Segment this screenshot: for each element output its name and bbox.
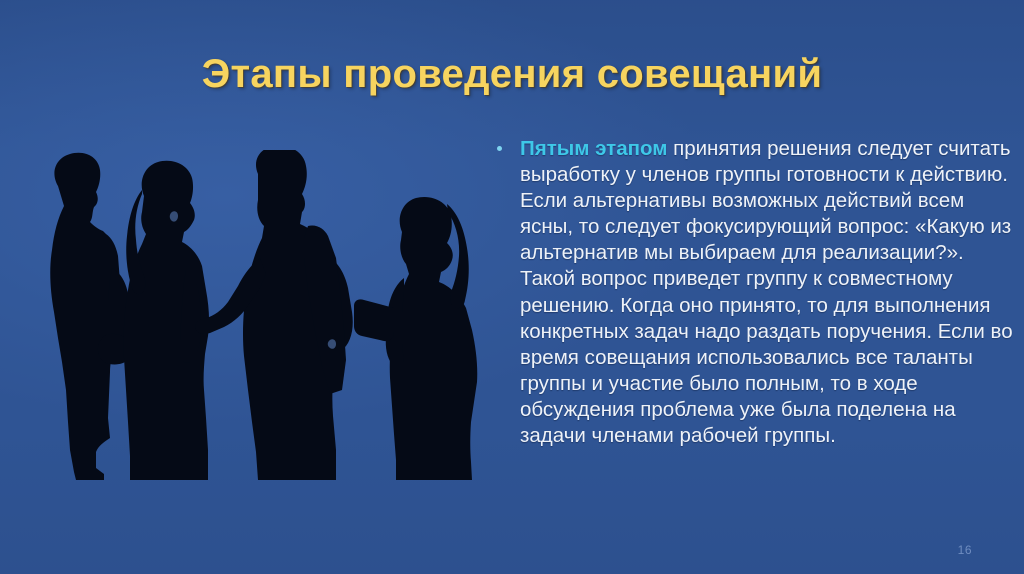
silhouette-woman-hair-left [126, 190, 145, 294]
bullet-body-text: принятия решения следует считать выработ… [520, 137, 1013, 447]
bullet-point-icon [497, 146, 502, 151]
page-number: 16 [958, 543, 972, 557]
silhouette-tablet [354, 299, 394, 341]
slide-title: Этапы проведения совещаний [0, 52, 1024, 97]
slide-body: Пятым этапом принятия решения следует сч… [492, 136, 1016, 449]
presentation-slide: Этапы проведения совещаний Пятым этапом … [0, 0, 1024, 574]
bullet-item: Пятым этапом принятия решения следует сч… [492, 136, 1016, 449]
bullet-accent-phrase: Пятым этапом [520, 137, 667, 160]
meeting-silhouette-image [0, 150, 492, 490]
